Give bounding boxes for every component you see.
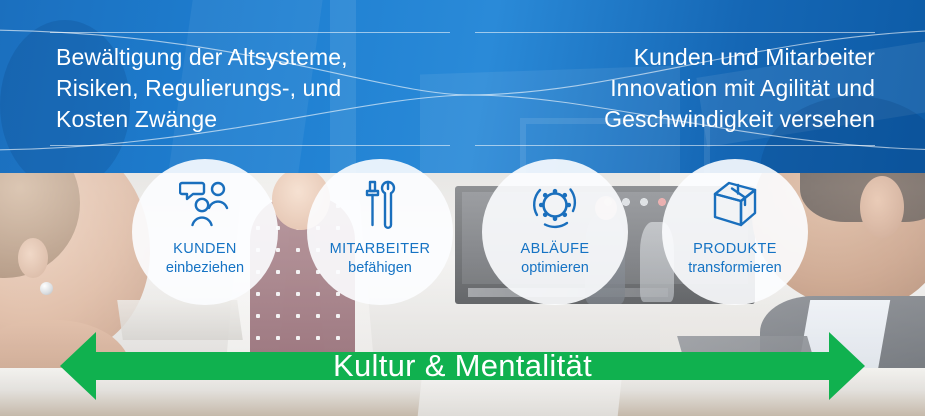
pillar-kunden-subtitle: einbeziehen — [166, 259, 244, 277]
customers-speech-bubble-people-icon — [179, 179, 231, 229]
rule-right-bottom — [475, 145, 875, 146]
pillar-produkte[interactable]: PRODUKTE transformieren — [662, 159, 808, 305]
banner-graphic: Bewältigung der Altsysteme, Risiken, Reg… — [0, 0, 925, 416]
rule-left-bottom — [50, 145, 450, 146]
pillar-ablaeufe-title: ABLÄUFE — [521, 241, 590, 258]
headline-right: Kunden und Mitarbeiter Innovation mit Ag… — [470, 42, 875, 135]
pillar-kunden-title: KUNDEN — [173, 241, 237, 258]
headline-left: Bewältigung der Altsysteme, Risiken, Reg… — [56, 42, 456, 135]
pillar-mitarbeiter[interactable]: MITARBEITER befähigen — [307, 159, 453, 305]
rule-right-top — [475, 32, 875, 33]
product-box-cube-icon — [709, 179, 761, 229]
pillar-ablaeufe[interactable]: ABLÄUFE optimieren — [482, 159, 628, 305]
screwdriver-wrench-tools-icon — [354, 179, 406, 229]
header-band: Bewältigung der Altsysteme, Risiken, Reg… — [0, 0, 925, 173]
pillar-ablaeufe-subtitle: optimieren — [521, 259, 589, 277]
pillar-mitarbeiter-title: MITARBEITER — [330, 241, 431, 258]
pillar-produkte-title: PRODUKTE — [693, 241, 777, 258]
pillar-produkte-subtitle: transformieren — [688, 259, 781, 277]
gear-cog-process-icon — [529, 179, 581, 229]
culture-arrow — [0, 316, 925, 416]
rule-left-top — [50, 32, 450, 33]
pillar-kunden[interactable]: KUNDEN einbeziehen — [132, 159, 278, 305]
pillar-mitarbeiter-subtitle: befähigen — [348, 259, 412, 277]
double-arrow-shape — [0, 316, 925, 416]
